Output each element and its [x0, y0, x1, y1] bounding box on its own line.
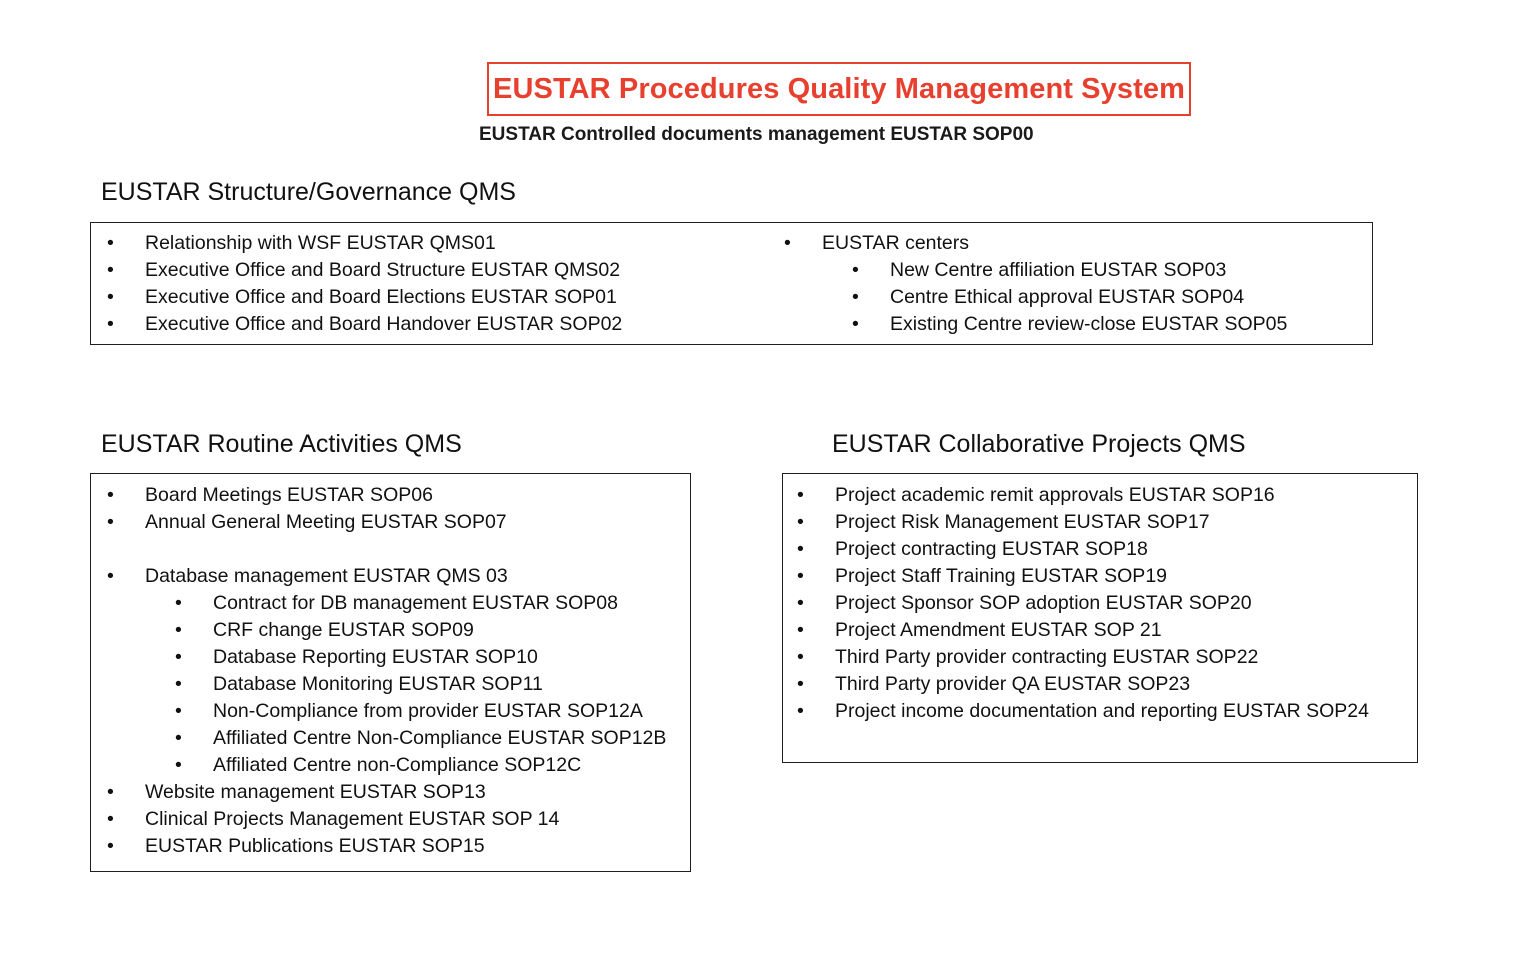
list-item-label: Database management EUSTAR QMS 03	[145, 563, 508, 590]
section-heading-structure-governance: EUSTAR Structure/Governance QMS	[101, 178, 516, 207]
list-item-label: Database Monitoring EUSTAR SOP11	[213, 671, 543, 698]
bullet-icon: •	[852, 311, 866, 338]
bullet-icon: •	[784, 230, 798, 257]
bullet-icon: •	[107, 311, 121, 338]
list-item-label: Project contracting EUSTAR SOP18	[835, 536, 1148, 563]
list-item-label: Executive Office and Board Handover EUST…	[145, 311, 622, 338]
bullet-icon: •	[797, 617, 811, 644]
bullet-icon: •	[107, 833, 121, 860]
list-item-label: Project Staff Training EUSTAR SOP19	[835, 563, 1167, 590]
bullet-icon: •	[175, 590, 189, 617]
list-item-label: CRF change EUSTAR SOP09	[213, 617, 474, 644]
bullet-icon: •	[797, 509, 811, 536]
bullet-icon: •	[175, 725, 189, 752]
list-item-label: New Centre affiliation EUSTAR SOP03	[890, 257, 1226, 284]
bullet-icon: •	[852, 257, 866, 284]
list-item-label: Centre Ethical approval EUSTAR SOP04	[890, 284, 1244, 311]
bullet-icon: •	[797, 563, 811, 590]
list-item-label: Website management EUSTAR SOP13	[145, 779, 486, 806]
list-item-label: Clinical Projects Management EUSTAR SOP …	[145, 806, 559, 833]
bullet-icon: •	[175, 644, 189, 671]
bullet-icon: •	[175, 617, 189, 644]
title-box: EUSTAR Procedures Quality Management Sys…	[487, 62, 1191, 116]
bullet-icon: •	[175, 671, 189, 698]
bullet-icon: •	[797, 482, 811, 509]
bullet-icon: •	[852, 284, 866, 311]
bullet-icon: •	[175, 698, 189, 725]
bullet-icon: •	[107, 230, 121, 257]
bullet-icon: •	[107, 257, 121, 284]
bullet-icon: •	[797, 671, 811, 698]
list-item-label: EUSTAR centers	[822, 230, 969, 257]
bullet-icon: •	[175, 752, 189, 779]
list-item-label: Relationship with WSF EUSTAR QMS01	[145, 230, 496, 257]
bullet-icon: •	[797, 590, 811, 617]
list-item-label: Contract for DB management EUSTAR SOP08	[213, 590, 618, 617]
list-item-label: Non-Compliance from provider EUSTAR SOP1…	[213, 698, 643, 725]
list-item-label: Existing Centre review-close EUSTAR SOP0…	[890, 311, 1287, 338]
bullet-icon: •	[107, 806, 121, 833]
list-item-label: Affiliated Centre Non-Compliance EUSTAR …	[213, 725, 666, 752]
list-item-label: Annual General Meeting EUSTAR SOP07	[145, 509, 507, 536]
slide-canvas: EUSTAR Procedures Quality Management Sys…	[0, 0, 1536, 975]
list-item-label: Project Sponsor SOP adoption EUSTAR SOP2…	[835, 590, 1252, 617]
list-item-label: Board Meetings EUSTAR SOP06	[145, 482, 433, 509]
bullet-icon: •	[797, 536, 811, 563]
list-item-label: Project Amendment EUSTAR SOP 21	[835, 617, 1162, 644]
bullet-icon: •	[797, 644, 811, 671]
section-heading-routine-activities: EUSTAR Routine Activities QMS	[101, 430, 462, 459]
page-title: EUSTAR Procedures Quality Management Sys…	[493, 73, 1185, 106]
list-item-label: Project Risk Management EUSTAR SOP17	[835, 509, 1210, 536]
bullet-icon: •	[797, 698, 811, 725]
list-item-label: Executive Office and Board Structure EUS…	[145, 257, 620, 284]
bullet-icon: •	[107, 482, 121, 509]
bullet-icon: •	[107, 563, 121, 590]
bullet-icon: •	[107, 284, 121, 311]
subtitle: EUSTAR Controlled documents management E…	[479, 124, 1039, 146]
section-heading-collaborative-projects: EUSTAR Collaborative Projects QMS	[832, 430, 1246, 459]
list-item-label: Project academic remit approvals EUSTAR …	[835, 482, 1275, 509]
bullet-icon: •	[107, 509, 121, 536]
list-item-label: Executive Office and Board Elections EUS…	[145, 284, 617, 311]
list-item-label: Database Reporting EUSTAR SOP10	[213, 644, 538, 671]
list-item-label: Third Party provider contracting EUSTAR …	[835, 644, 1258, 671]
list-item-label: EUSTAR Publications EUSTAR SOP15	[145, 833, 485, 860]
list-item-label: Project income documentation and reporti…	[835, 698, 1369, 725]
list-item-label: Third Party provider QA EUSTAR SOP23	[835, 671, 1190, 698]
bullet-icon: •	[107, 779, 121, 806]
list-item-label: Affiliated Centre non-Compliance SOP12C	[213, 752, 581, 779]
